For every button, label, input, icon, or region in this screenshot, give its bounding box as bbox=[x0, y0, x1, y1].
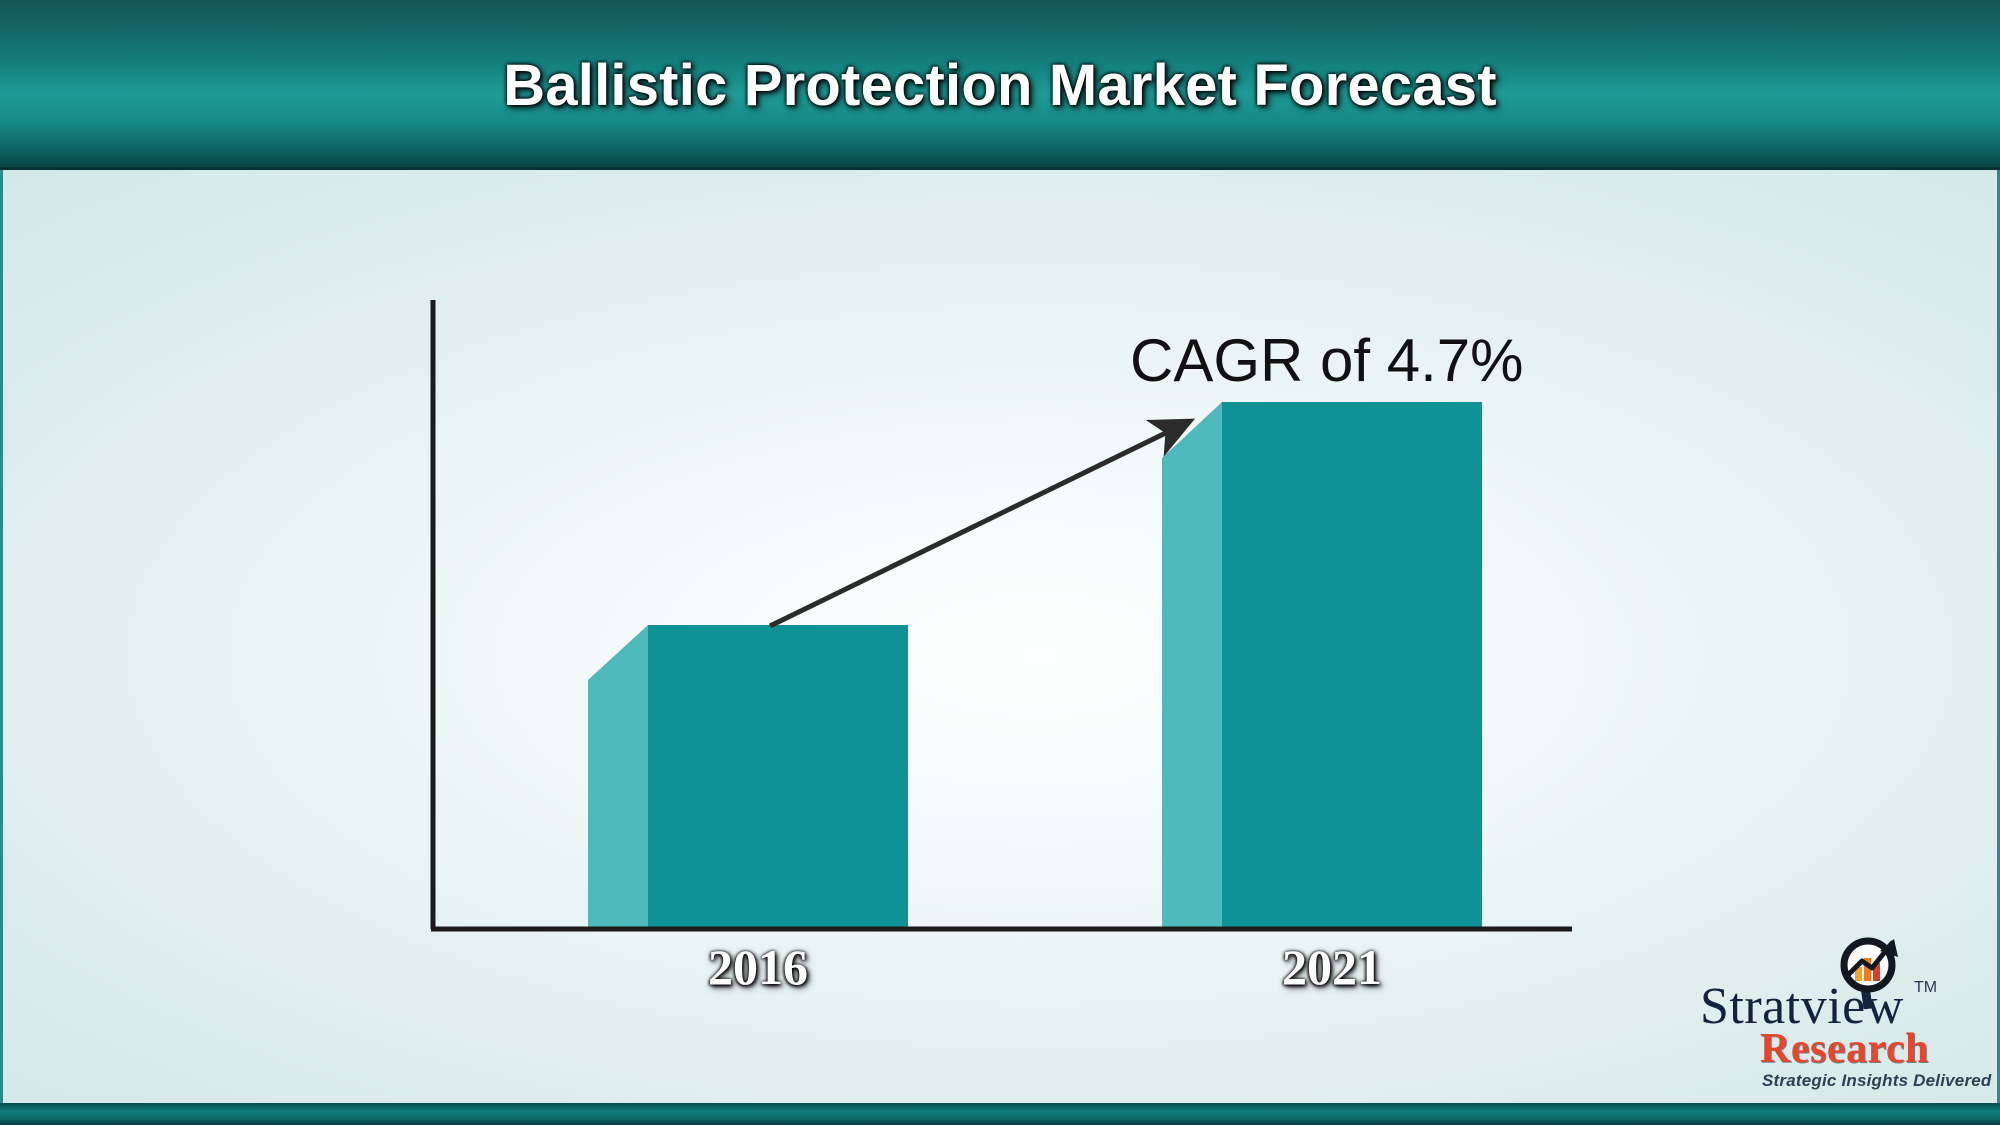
cagr-annotation: CAGR of 4.7% bbox=[1130, 326, 1524, 395]
x-axis-label-2021: 2021 bbox=[1202, 938, 1462, 996]
logo-tagline: Strategic Insights Delivered bbox=[1762, 1071, 1992, 1091]
slide-root: Ballistic Protection Market Forecast bbox=[0, 0, 2000, 1125]
x-axis-label-2016: 2016 bbox=[628, 938, 888, 996]
brand-logo[interactable]: Stratview TM Research Strategic Insights… bbox=[1700, 925, 1990, 1100]
logo-trademark: TM bbox=[1914, 979, 1937, 997]
logo-brand-bottom: Research bbox=[1760, 1025, 1990, 1073]
footer-band bbox=[0, 1103, 2000, 1125]
page-title: Ballistic Protection Market Forecast bbox=[0, 0, 2000, 170]
